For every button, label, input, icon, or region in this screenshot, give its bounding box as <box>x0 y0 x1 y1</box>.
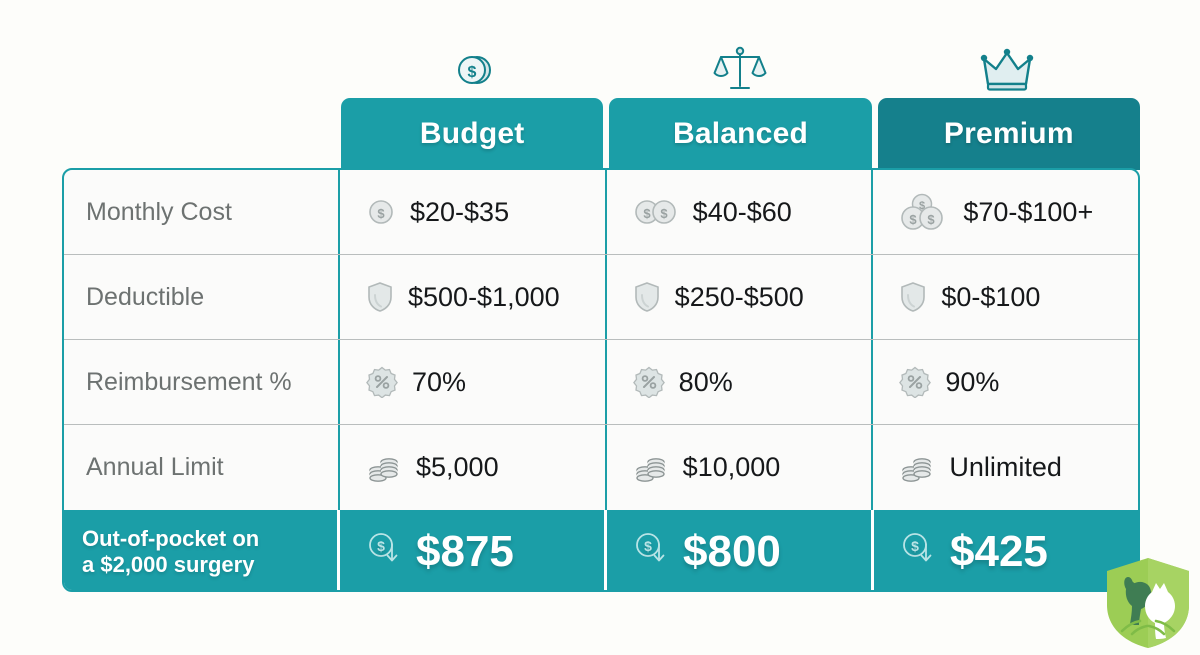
svg-text:$: $ <box>468 64 477 81</box>
svg-text:$: $ <box>644 538 652 554</box>
summary-label: Out-of-pocket on a $2,000 surgery <box>64 510 340 592</box>
cost-down-icon: $ <box>900 527 936 577</box>
cell-deductible-budget: $500-$1,000 <box>340 255 607 339</box>
percent-badge-icon <box>366 366 398 398</box>
comparison-table-body: Monthly Cost $ $20-$35 $ $ <box>62 168 1140 592</box>
row-label-annual-limit: Annual Limit <box>64 425 340 510</box>
plan-header-balanced[interactable]: Balanced <box>609 98 871 170</box>
plan-icon-budget: $ <box>341 42 607 98</box>
summary-value: $800 <box>683 527 781 577</box>
plan-header-budget[interactable]: Budget <box>341 98 603 170</box>
svg-text:$: $ <box>911 538 919 554</box>
svg-text:$: $ <box>660 206 668 221</box>
cell-annual-limit-premium: Unlimited <box>873 425 1138 510</box>
pet-shield-logo <box>1102 555 1194 651</box>
coin-stack-icon <box>366 451 402 485</box>
svg-text:$: $ <box>643 206 651 221</box>
cell-value: $10,000 <box>683 452 781 483</box>
svg-text:$: $ <box>910 212 918 227</box>
two-coins-icon: $ $ <box>633 197 679 227</box>
cell-value: 70% <box>412 367 466 398</box>
shield-icon <box>899 281 927 313</box>
cell-value: 90% <box>945 367 999 398</box>
summary-value: $425 <box>950 527 1048 577</box>
cell-monthly-cost-budget: $ $20-$35 <box>340 170 607 254</box>
table-row: Reimbursement % 70% <box>64 340 1138 425</box>
row-label-deductible: Deductible <box>64 255 340 339</box>
cell-annual-limit-balanced: $10,000 <box>607 425 874 510</box>
plan-icon-balanced <box>607 42 873 98</box>
cell-value: $40-$60 <box>693 197 792 228</box>
svg-text:$: $ <box>377 206 385 221</box>
cell-value: Unlimited <box>949 452 1062 483</box>
plan-icon-row: $ <box>341 42 1140 98</box>
cell-reimbursement-balanced: 80% <box>607 340 874 424</box>
summary-value-premium: $ $425 <box>874 510 1138 592</box>
cell-monthly-cost-premium: $ $ $ $70-$100+ <box>873 170 1138 254</box>
one-coin-icon: $ <box>366 197 396 227</box>
cell-reimbursement-premium: 90% <box>873 340 1138 424</box>
cost-down-icon: $ <box>633 527 669 577</box>
cell-value: $70-$100+ <box>963 197 1093 228</box>
cell-value: 80% <box>679 367 733 398</box>
cell-value: $20-$35 <box>410 197 509 228</box>
cell-deductible-premium: $0-$100 <box>873 255 1138 339</box>
cost-down-icon: $ <box>366 527 402 577</box>
plan-icon-premium <box>874 42 1140 98</box>
table-row: Monthly Cost $ $20-$35 $ $ <box>64 170 1138 255</box>
crown-icon <box>979 46 1035 94</box>
shield-icon <box>366 281 394 313</box>
summary-label-line1: Out-of-pocket on <box>82 526 337 552</box>
single-coin-icon: $ <box>449 45 499 95</box>
svg-text:$: $ <box>377 538 385 554</box>
percent-badge-icon <box>899 366 931 398</box>
pricing-comparison-table: $ <box>0 0 1200 655</box>
cell-reimbursement-budget: 70% <box>340 340 607 424</box>
summary-label-line2: a $2,000 surgery <box>82 552 337 578</box>
balance-scale-icon <box>713 44 767 96</box>
shield-icon <box>633 281 661 313</box>
summary-value: $875 <box>416 527 514 577</box>
table-row: Annual Limit <box>64 425 1138 510</box>
summary-value-budget: $ $875 <box>340 510 607 592</box>
table-row: Deductible $500-$1,000 $250-$ <box>64 255 1138 340</box>
cell-monthly-cost-balanced: $ $ $40-$60 <box>607 170 874 254</box>
svg-text:$: $ <box>928 212 936 227</box>
cell-value: $5,000 <box>416 452 499 483</box>
row-label-monthly-cost: Monthly Cost <box>64 170 340 254</box>
cell-value: $500-$1,000 <box>408 282 560 313</box>
coin-stack-icon <box>899 451 935 485</box>
coin-stack-icon <box>633 451 669 485</box>
percent-badge-icon <box>633 366 665 398</box>
cell-value: $250-$500 <box>675 282 804 313</box>
row-label-reimbursement: Reimbursement % <box>64 340 340 424</box>
plan-header-premium[interactable]: Premium <box>878 98 1140 170</box>
summary-value-balanced: $ $800 <box>607 510 874 592</box>
cell-value: $0-$100 <box>941 282 1040 313</box>
summary-row: Out-of-pocket on a $2,000 surgery $ $875 <box>64 510 1138 592</box>
three-coins-icon: $ $ $ <box>899 193 949 231</box>
cell-deductible-balanced: $250-$500 <box>607 255 874 339</box>
cell-annual-limit-budget: $5,000 <box>340 425 607 510</box>
plan-header-row: Budget Balanced Premium <box>341 98 1140 170</box>
